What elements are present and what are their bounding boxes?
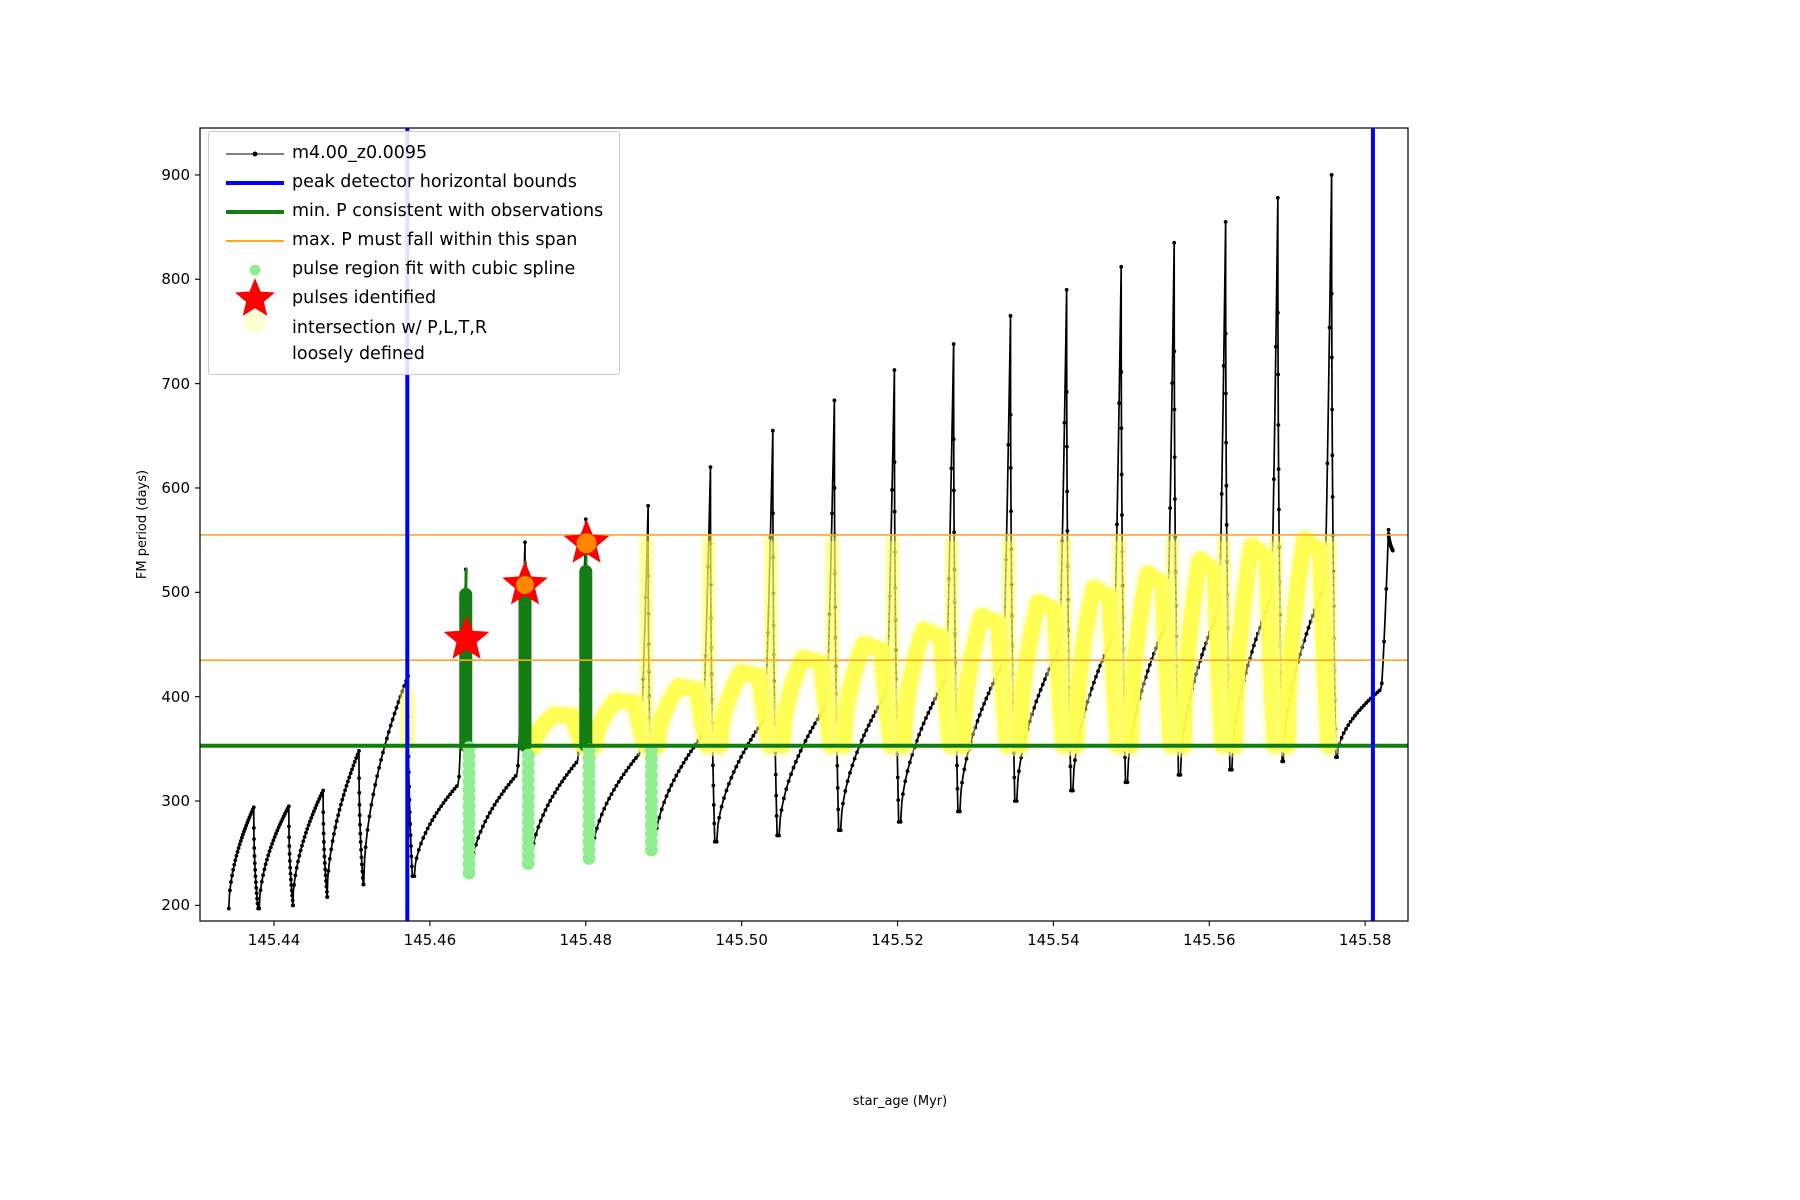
data-point (439, 804, 443, 808)
data-point (541, 813, 545, 817)
data-point (325, 895, 329, 899)
data-point (410, 855, 414, 859)
data-point (774, 773, 778, 777)
data-point (1330, 453, 1334, 457)
intersection-point (1112, 534, 1127, 549)
data-point (308, 820, 312, 824)
data-point (1224, 484, 1228, 488)
data-point (368, 815, 372, 819)
legend-item: max. P must fall within this span (218, 226, 610, 255)
data-point (257, 907, 261, 911)
data-point (1065, 529, 1069, 533)
data-point (709, 465, 713, 469)
data-point (305, 827, 309, 831)
x-tick-label: 145.46 (404, 931, 457, 949)
data-point (712, 803, 716, 807)
data-point (239, 839, 243, 843)
data-point (340, 798, 344, 802)
data-point (949, 466, 953, 470)
pulse-curve (293, 791, 328, 906)
data-point (711, 784, 715, 788)
data-point (1126, 780, 1130, 784)
data-point (236, 850, 240, 854)
data-point (553, 791, 557, 795)
legend-line-swatch (218, 197, 292, 226)
data-point (307, 823, 311, 827)
data-point (836, 786, 840, 790)
data-point (409, 844, 413, 848)
data-point (369, 803, 373, 807)
data-point (796, 754, 800, 758)
data-point (1277, 508, 1281, 512)
data-point (391, 718, 395, 722)
data-point (722, 796, 726, 800)
data-point (627, 766, 631, 770)
data-point (227, 907, 231, 911)
data-point (833, 486, 837, 490)
data-point (544, 808, 548, 812)
data-point (346, 780, 350, 784)
data-point (670, 783, 674, 787)
data-point (502, 789, 506, 793)
data-point (287, 835, 291, 839)
data-point (1092, 681, 1096, 685)
data-point (424, 831, 428, 835)
data-point (377, 766, 381, 770)
data-point (299, 849, 303, 853)
data-point (252, 826, 256, 830)
data-point (1096, 669, 1100, 673)
data-point (262, 868, 266, 872)
data-point (301, 839, 305, 843)
data-point (1148, 663, 1152, 667)
data-point (264, 862, 268, 866)
y-tick-label: 700 (0, 375, 190, 393)
data-point (1146, 669, 1150, 673)
data-point (784, 787, 788, 791)
data-point (322, 822, 326, 826)
data-point (322, 832, 326, 836)
data-point (259, 888, 263, 892)
legend-line-glyph (226, 210, 284, 214)
y-tick-label: 200 (0, 896, 190, 914)
data-point (1009, 509, 1013, 513)
data-point (1117, 401, 1121, 405)
data-point (612, 788, 616, 792)
data-point (1172, 349, 1176, 353)
data-point (1043, 677, 1047, 681)
data-point (343, 788, 347, 792)
intersection-point (1001, 534, 1016, 549)
data-point (729, 776, 733, 780)
data-point (1170, 381, 1174, 385)
data-point (1172, 241, 1176, 245)
data-point (375, 774, 379, 778)
data-point (442, 801, 446, 805)
legend-item-label: peak detector horizontal bounds (292, 168, 577, 197)
data-point (1009, 314, 1013, 318)
data-point (291, 903, 295, 907)
data-point (419, 842, 423, 846)
legend-item-label: intersection w/ P,L,T,R loosely defined (292, 313, 487, 367)
data-point (455, 784, 459, 788)
data-point (952, 530, 956, 534)
data-point (896, 798, 900, 802)
data-point (804, 739, 808, 743)
data-point (266, 853, 270, 857)
data-point (853, 757, 857, 761)
data-point (238, 843, 242, 847)
y-tick-label: 400 (0, 688, 190, 706)
data-point (300, 844, 304, 848)
data-point (1276, 373, 1280, 377)
data-point (1328, 326, 1332, 330)
data-point (331, 839, 335, 843)
data-point (359, 848, 363, 852)
data-point (500, 792, 504, 796)
data-point (1224, 392, 1228, 396)
data-point (1120, 513, 1124, 517)
data-point (523, 540, 527, 544)
intersection-point (639, 534, 654, 549)
data-point (356, 753, 360, 757)
data-point (360, 855, 364, 859)
data-point (265, 858, 269, 862)
data-point (1346, 723, 1350, 727)
data-point (906, 769, 910, 773)
x-tick-label: 145.44 (248, 931, 301, 949)
data-point (333, 825, 337, 829)
data-point (1349, 720, 1353, 724)
data-point (1168, 506, 1172, 510)
x-tick-label: 145.50 (715, 931, 768, 949)
data-point (303, 835, 307, 839)
legend-item: m4.00_z0.0095 (218, 139, 610, 168)
data-point (1179, 773, 1183, 777)
data-point (1224, 220, 1228, 224)
data-point (385, 737, 389, 741)
data-point (237, 846, 241, 850)
data-point (381, 751, 385, 755)
intersection-point (1268, 534, 1283, 549)
x-tick-label: 145.56 (1183, 931, 1236, 949)
data-point (570, 767, 574, 771)
data-point (232, 863, 236, 867)
data-point (289, 872, 293, 876)
data-point (595, 826, 599, 830)
x-tick-label: 145.58 (1339, 931, 1392, 949)
intersection-arc-halo (1076, 588, 1118, 746)
data-point (412, 874, 416, 878)
data-point (309, 816, 313, 820)
data-point (806, 734, 810, 738)
data-point (841, 802, 845, 806)
series-intersection-pltr (399, 534, 1337, 754)
data-point (495, 799, 499, 803)
data-point (777, 834, 781, 838)
data-point (864, 728, 868, 732)
data-point (287, 825, 291, 829)
chart-root: FM period (days) star_age (Myr) 145.4414… (0, 0, 1800, 1200)
data-point (1039, 688, 1043, 692)
data-point (490, 807, 494, 811)
data-point (353, 760, 357, 764)
data-point (919, 727, 923, 731)
data-point (956, 787, 960, 791)
chart-legend: m4.00_z0.0095peak detector horizontal bo… (208, 131, 620, 375)
data-point (605, 802, 609, 806)
data-point (955, 764, 959, 768)
data-point (261, 873, 265, 877)
data-point (254, 874, 258, 878)
data-point (555, 787, 559, 791)
data-point (1344, 727, 1348, 731)
data-point (1065, 390, 1069, 394)
data-point (297, 854, 301, 858)
data-point (1380, 681, 1384, 685)
data-point (725, 789, 729, 793)
data-point (1224, 332, 1228, 336)
data-point (962, 767, 966, 771)
data-point (734, 765, 738, 769)
data-point (597, 819, 601, 823)
data-point (433, 815, 437, 819)
data-point (1281, 759, 1285, 763)
data-point (830, 512, 834, 516)
data-point (1015, 799, 1019, 803)
intersection-point (701, 534, 716, 549)
data-point (410, 865, 414, 869)
data-point (260, 880, 264, 884)
data-point (665, 794, 669, 798)
data-point (507, 783, 511, 787)
data-point (771, 429, 775, 433)
data-point (253, 868, 257, 872)
data-point (782, 797, 786, 801)
data-point (687, 753, 691, 757)
data-point (1006, 443, 1010, 447)
data-point (775, 814, 779, 818)
data-point (717, 816, 721, 820)
data-point (567, 770, 571, 774)
data-point (253, 854, 257, 858)
data-point (839, 828, 843, 832)
intersection-point (885, 534, 900, 549)
y-tick-label: 900 (0, 166, 190, 184)
data-point (358, 803, 362, 807)
data-point (682, 761, 686, 765)
data-point (231, 868, 235, 872)
intersection-point (1165, 534, 1180, 549)
data-point (662, 800, 666, 804)
data-point (572, 764, 576, 768)
data-point (230, 874, 234, 878)
data-point (679, 765, 683, 769)
data-point (657, 816, 661, 820)
data-point (751, 734, 755, 738)
data-point (1037, 694, 1041, 698)
data-point (1009, 413, 1013, 417)
data-point (1220, 492, 1224, 496)
data-point (749, 738, 753, 742)
legend-item-label: pulses identified (292, 284, 436, 313)
data-point (742, 750, 746, 754)
x-tick-label: 145.54 (1027, 931, 1080, 949)
intersection-arc-halo (904, 630, 951, 746)
data-point (516, 764, 520, 768)
data-point (737, 760, 741, 764)
data-point (843, 789, 847, 793)
legend-dot-swatch (218, 313, 292, 342)
intersection-arc-halo (595, 700, 645, 745)
legend-line-swatch (218, 139, 292, 168)
data-point (602, 807, 606, 811)
data-point (1173, 408, 1177, 412)
data-point (952, 489, 956, 493)
data-point (980, 707, 984, 711)
pulse-star-core (577, 533, 597, 553)
legend-item: min. P consistent with observations (218, 197, 610, 226)
data-point (574, 761, 578, 765)
spline-fit-point (522, 749, 535, 762)
data-point (1173, 497, 1177, 501)
data-point (1173, 455, 1177, 459)
data-point (268, 849, 272, 853)
legend-item-label: m4.00_z0.0095 (292, 139, 427, 168)
data-point (739, 755, 743, 759)
data-point (667, 789, 671, 793)
data-point (689, 749, 693, 753)
pulse-star-core (516, 576, 534, 594)
intersection-point (1057, 534, 1072, 549)
data-point (255, 891, 259, 895)
data-point (987, 692, 991, 696)
data-point (924, 716, 928, 720)
data-point (1119, 370, 1123, 374)
data-point (1330, 408, 1334, 412)
intersection-point (763, 534, 778, 549)
data-point (1272, 477, 1276, 481)
data-point (1274, 345, 1278, 349)
data-point (850, 764, 854, 768)
data-point (899, 820, 903, 824)
data-point (674, 774, 678, 778)
data-point (1254, 637, 1258, 641)
intersection-arc-halo (657, 686, 707, 745)
data-point (295, 866, 299, 870)
data-point (322, 848, 326, 852)
data-point (624, 769, 628, 773)
data-point (546, 803, 550, 807)
data-point (1012, 776, 1016, 780)
legend-line-glyph (226, 240, 284, 242)
data-point (288, 859, 292, 863)
data-point (287, 844, 291, 848)
data-point (252, 837, 256, 841)
data-point (771, 511, 775, 515)
data-point (862, 733, 866, 737)
legend-item: peak detector horizontal bounds (218, 168, 610, 197)
data-point (952, 437, 956, 441)
data-point (360, 863, 364, 867)
legend-line-glyph (226, 181, 284, 185)
data-point (288, 866, 292, 870)
data-point (610, 792, 614, 796)
data-point (960, 781, 964, 785)
intersection-arc-halo (782, 658, 831, 745)
data-point (1065, 445, 1069, 449)
data-point (393, 712, 397, 716)
data-point (926, 711, 930, 715)
data-point (890, 488, 894, 492)
data-point (1330, 355, 1334, 359)
data-point (255, 897, 259, 901)
data-point (289, 878, 293, 882)
data-point (357, 776, 361, 780)
data-point (1326, 462, 1330, 466)
data-point (893, 460, 897, 464)
data-point (352, 764, 356, 768)
data-point (732, 770, 736, 774)
data-point (811, 726, 815, 730)
legend-item-label: pulse region fit with cubic spline (292, 255, 575, 284)
data-point (366, 828, 370, 832)
data-point (493, 803, 497, 807)
data-point (362, 883, 366, 887)
data-point (1202, 647, 1206, 651)
data-point (607, 797, 611, 801)
data-point (1009, 466, 1013, 470)
data-point (252, 846, 256, 850)
legend-item: pulses identified (218, 284, 610, 313)
data-point (235, 854, 239, 858)
data-point (457, 775, 461, 779)
data-point (323, 867, 327, 871)
legend-item-label: min. P consistent with observations (292, 197, 603, 226)
data-point (893, 368, 897, 372)
data-point (646, 504, 650, 508)
data-point (799, 749, 803, 753)
data-point (1225, 523, 1229, 527)
data-point (632, 759, 636, 763)
data-point (1222, 364, 1226, 368)
data-point (304, 831, 308, 835)
data-point (860, 739, 864, 743)
data-point (1330, 173, 1334, 177)
intersection-arc-halo (963, 616, 1007, 746)
data-point (311, 813, 315, 817)
intersection-point (1216, 534, 1231, 549)
data-point (836, 808, 840, 812)
data-point (901, 792, 905, 796)
data-point (321, 810, 325, 814)
data-point (1041, 683, 1045, 687)
data-point (271, 838, 275, 842)
data-point (558, 783, 562, 787)
data-point (321, 789, 325, 793)
y-tick-label: 500 (0, 583, 190, 601)
data-point (428, 822, 432, 826)
data-point (1230, 768, 1234, 772)
data-point (1330, 292, 1334, 296)
data-point (560, 780, 564, 784)
data-point (789, 772, 793, 776)
data-point (1382, 640, 1386, 644)
data-point (1335, 755, 1339, 759)
data-point (615, 784, 619, 788)
data-point (379, 758, 383, 762)
data-point (846, 779, 850, 783)
